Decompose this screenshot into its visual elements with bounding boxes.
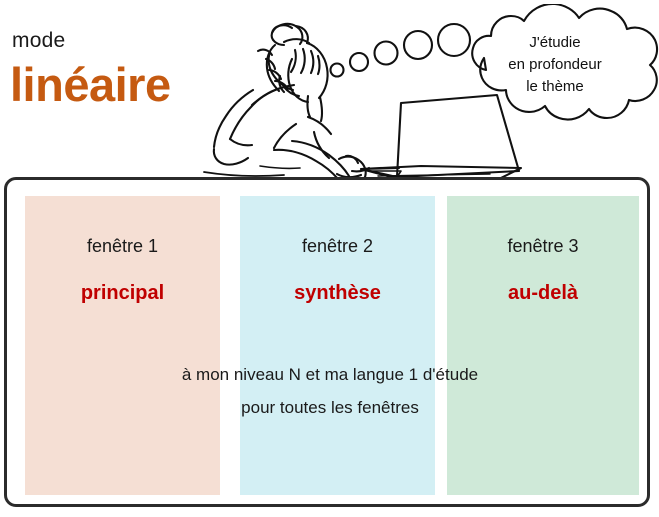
window-3-name-label: au-delà: [447, 282, 639, 305]
person-studying-at-laptop-illustration: [196, 4, 659, 180]
mode-value: linéaire: [10, 60, 171, 109]
window-column-2[interactable]: fenêtre 2 synthèse: [240, 196, 435, 495]
windows-panel: fenêtre 1 principal fenêtre 2 synthèse f…: [4, 177, 650, 507]
window-1-name-label: principal: [25, 282, 220, 305]
window-2-index-label: fenêtre 2: [240, 236, 435, 257]
mode-label: mode: [12, 30, 65, 51]
window-3-index-label: fenêtre 3: [447, 236, 639, 257]
header: mode linéaire: [0, 0, 659, 178]
window-column-1[interactable]: fenêtre 1 principal: [25, 196, 220, 495]
window-2-name-label: synthèse: [240, 282, 435, 305]
window-column-3[interactable]: fenêtre 3 au-delà: [447, 196, 639, 495]
window-1-index-label: fenêtre 1: [25, 236, 220, 257]
